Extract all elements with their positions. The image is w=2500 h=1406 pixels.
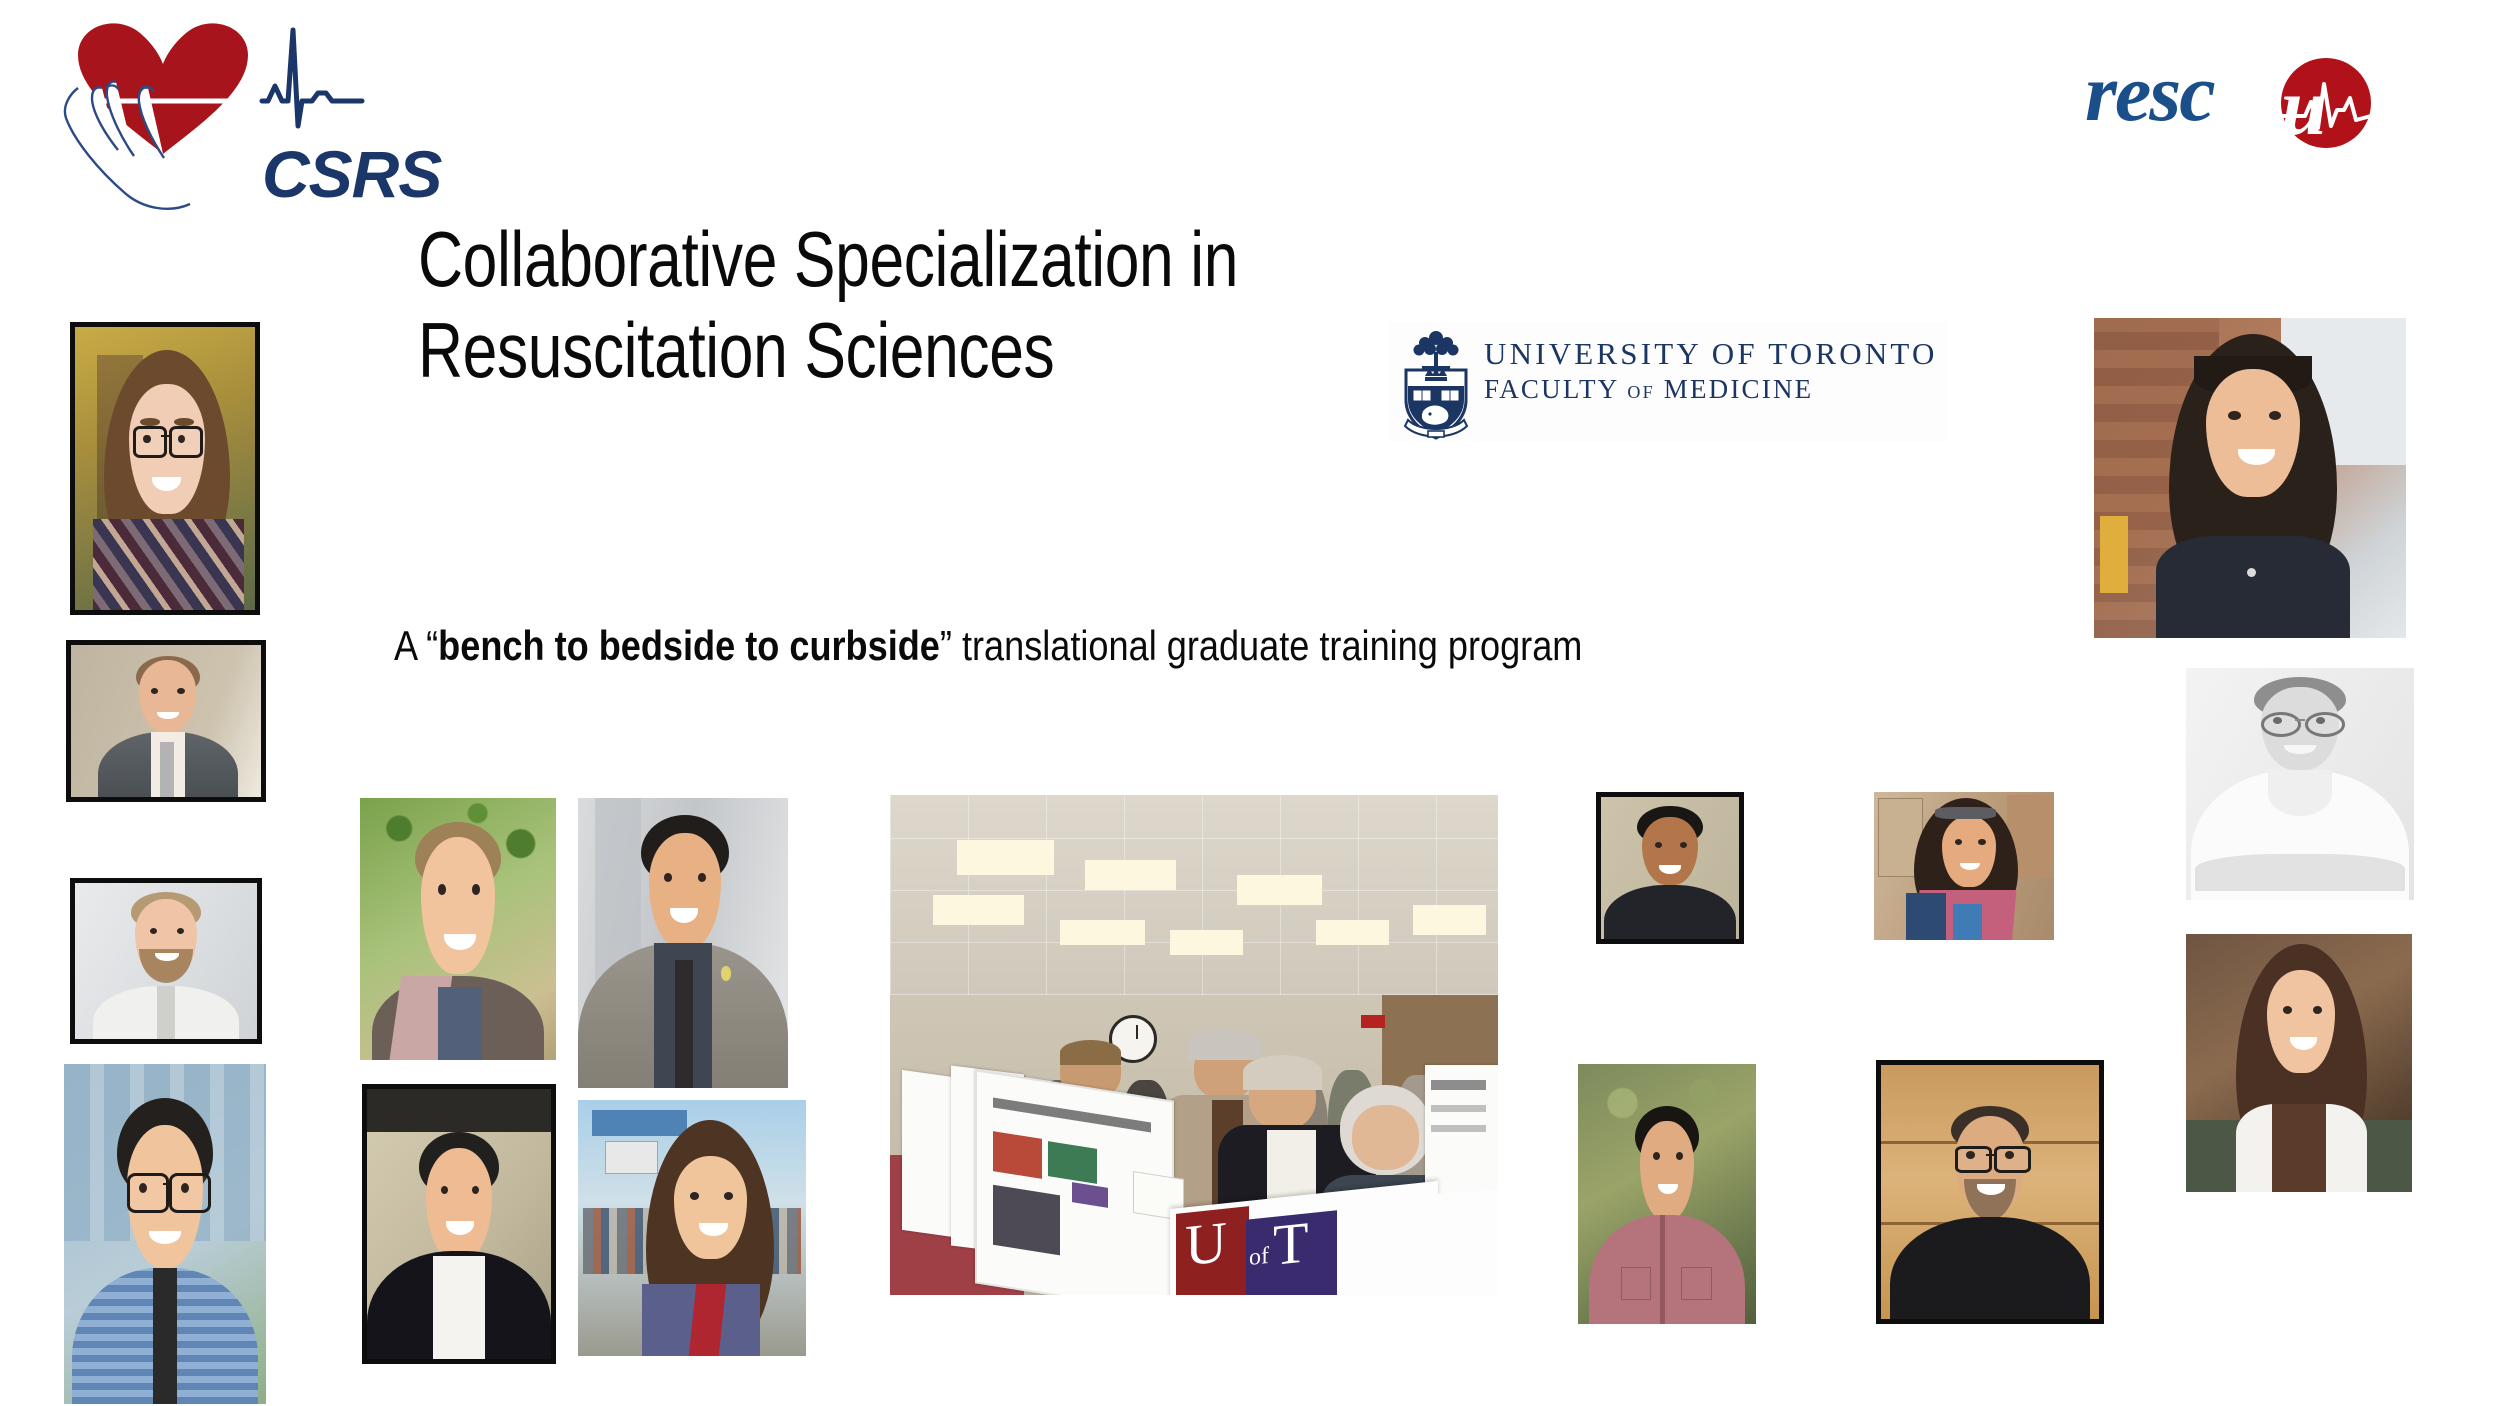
uoft-line2-of: OF xyxy=(1627,382,1654,402)
uoft-line2-medicine: MEDICINE xyxy=(1664,374,1814,404)
photo-portrait-man-beard-shirt xyxy=(70,878,262,1044)
rescu-logo: resc u xyxy=(2085,40,2385,150)
photo-portrait-man-grey-suit xyxy=(66,640,266,802)
photo-portrait-man-black-blazer xyxy=(362,1084,556,1364)
photo-portrait-woman-street-crowd xyxy=(578,1100,806,1356)
presentation-slide: CSRS resc u Collaborative Specialization… xyxy=(0,0,2500,1406)
uoft-banner-t: T xyxy=(1273,1213,1308,1275)
photo-portrait-man-outdoors-green xyxy=(360,798,556,1060)
uoft-line1: UNIVERSITY OF TORONTO xyxy=(1484,336,1938,372)
csrs-logo: CSRS xyxy=(30,8,450,223)
uoft-logo: UNIVERSITY OF TORONTO FACULTY OF MEDICIN… xyxy=(1388,322,1948,442)
photo-poster-session-photo: U of T xyxy=(890,795,1498,1295)
photo-portrait-man-pink-shirt-forest xyxy=(1578,1064,1756,1324)
subtitle: A “bench to bedside to curbside” transla… xyxy=(394,622,1908,670)
uoft-crest-icon xyxy=(1392,324,1480,440)
subtitle-suffix: ” translational graduate training progra… xyxy=(940,622,1583,669)
subtitle-prefix: A “ xyxy=(394,622,438,669)
photo-portrait-man-bw-white-shirt xyxy=(2186,668,2414,900)
subtitle-emphasis: bench to bedside to curbside xyxy=(438,622,940,669)
photo-portrait-man-grey-blazer-tie xyxy=(578,798,788,1088)
rescu-wordmark: resc xyxy=(2085,46,2214,140)
photo-portrait-woman-dark-bangs xyxy=(2094,318,2406,638)
uoft-banner-u: U xyxy=(1185,1213,1227,1275)
photo-portrait-man-glasses-blue-check xyxy=(64,1064,266,1404)
photo-portrait-woman-glasses-autumn xyxy=(70,322,260,615)
photo-portrait-woman-scarf-sunglasses xyxy=(1874,792,2054,940)
csrs-acronym: CSRS xyxy=(262,136,441,212)
uoft-banner-of: of xyxy=(1249,1244,1269,1270)
page-title: Collaborative Specialization in Resuscit… xyxy=(418,214,1362,397)
photo-portrait-man-glasses-black-tee xyxy=(1876,1060,2104,1324)
uoft-line2-faculty: FACULTY xyxy=(1484,374,1618,404)
rescu-u-letter: u xyxy=(2281,60,2327,154)
photo-portrait-woman-long-brown-hair xyxy=(2186,934,2412,1192)
photo-portrait-man-dark-polo xyxy=(1596,792,1744,944)
